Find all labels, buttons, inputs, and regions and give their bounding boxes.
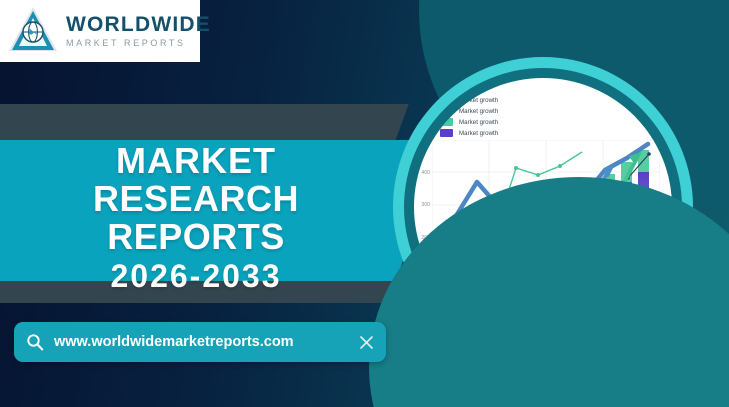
legend-item: Market growth [440,107,498,115]
legend-item: Market growth [440,96,498,104]
marketing-banner: Market growth Market growth Market growt… [0,0,729,407]
headline-line-2: RESEARCH REPORTS [0,180,392,256]
legend-swatch [440,107,453,115]
headline-line-1: MARKET [0,142,392,180]
y-tick-label: 400 [421,170,430,176]
legend-label: Market growth [459,97,498,104]
legend-label: Market growth [459,119,498,126]
headline-line-3: 2026-2033 [0,260,392,294]
legend-swatch [440,129,453,137]
legend-item: Market growth [440,129,498,137]
brand-text: WORLDWIDE MARKET REPORTS [66,14,211,48]
chart-legend: Market growth Market growth Market growt… [440,96,498,140]
search-bar[interactable]: www.worldwidemarketreports.com [14,322,386,362]
y-tick-label: 500 [421,137,430,143]
brand-logo[interactable]: WORLDWIDE MARKET REPORTS [0,0,200,62]
page-title: MARKET RESEARCH REPORTS 2026-2033 [0,142,392,294]
close-icon[interactable] [359,335,374,350]
brand-subtitle: MARKET REPORTS [66,39,211,48]
y-tick-label: 300 [421,202,430,208]
search-icon [26,333,44,351]
brand-title: WORLDWIDE [66,14,211,35]
legend-swatch [440,96,453,104]
legend-label: Market growth [459,130,498,137]
legend-item: Market growth [440,118,498,126]
legend-label: Market growth [459,108,498,115]
globe-triangle-logo-icon [6,5,60,57]
legend-swatch [440,118,453,126]
search-input[interactable]: www.worldwidemarketreports.com [54,334,359,350]
